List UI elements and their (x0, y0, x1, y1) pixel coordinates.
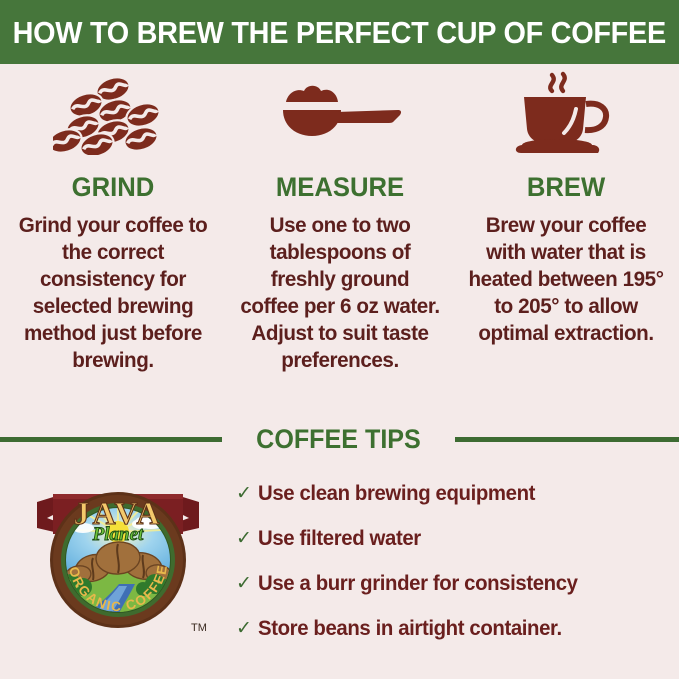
page-title: HOW TO BREW THE PERFECT CUP OF COFFEE (13, 17, 666, 48)
coffee-scoop-icon (235, 72, 445, 158)
logo-brand-script: Planet (92, 524, 144, 545)
coffee-tips-title: COFFEE TIPS (230, 424, 447, 455)
infographic-page: HOW TO BREW THE PERFECT CUP OF COFFEE (0, 0, 679, 679)
step-grind: GRIND Grind your coffee to the correct c… (0, 72, 226, 374)
step-brew: BREW Brew your coffee with water that is… (453, 72, 679, 347)
check-icon: ✓ (236, 484, 258, 503)
coffee-cup-icon (461, 72, 671, 158)
tip-item: ✓ Use filtered water (236, 519, 679, 558)
tip-text: Use a burr grinder for consistency (258, 572, 578, 596)
step-body-brew: Brew your coffee with water that is heat… (465, 212, 667, 347)
step-body-measure: Use one to two tablespoons of freshly gr… (239, 212, 441, 374)
check-icon: ✓ (236, 574, 258, 593)
bottom-section: ORGANIC COFFEE ROASTERS JAVA Planet TM ✓… (0, 466, 679, 679)
step-measure: MEASURE Use one to two tablespoons of fr… (227, 72, 453, 374)
steps-row: GRIND Grind your coffee to the correct c… (0, 72, 679, 374)
tip-text: Store beans in airtight container. (258, 617, 562, 641)
trademark-mark: TM (191, 622, 207, 634)
java-planet-logo: ORGANIC COFFEE ROASTERS JAVA Planet TM (0, 466, 236, 652)
tip-item: ✓ Use clean brewing equipment (236, 474, 679, 513)
header-banner: HOW TO BREW THE PERFECT CUP OF COFFEE (0, 0, 679, 64)
tip-text: Use filtered water (258, 527, 421, 551)
coffee-tips-list: ✓ Use clean brewing equipment ✓ Use filt… (236, 466, 679, 654)
tip-text: Use clean brewing equipment (258, 482, 535, 506)
tip-item: ✓ Store beans in airtight container. (236, 609, 679, 648)
divider-rule-right (455, 437, 679, 442)
check-icon: ✓ (236, 529, 258, 548)
coffee-tips-divider: COFFEE TIPS (0, 422, 679, 456)
check-icon: ✓ (236, 619, 258, 638)
divider-rule-left (0, 437, 222, 442)
step-heading-brew: BREW (466, 172, 666, 203)
step-heading-grind: GRIND (13, 172, 213, 203)
step-heading-measure: MEASURE (240, 172, 440, 203)
tip-item: ✓ Use a burr grinder for consistency (236, 564, 679, 603)
step-body-grind: Grind your coffee to the correct consist… (12, 212, 214, 374)
coffee-beans-icon (8, 72, 218, 158)
